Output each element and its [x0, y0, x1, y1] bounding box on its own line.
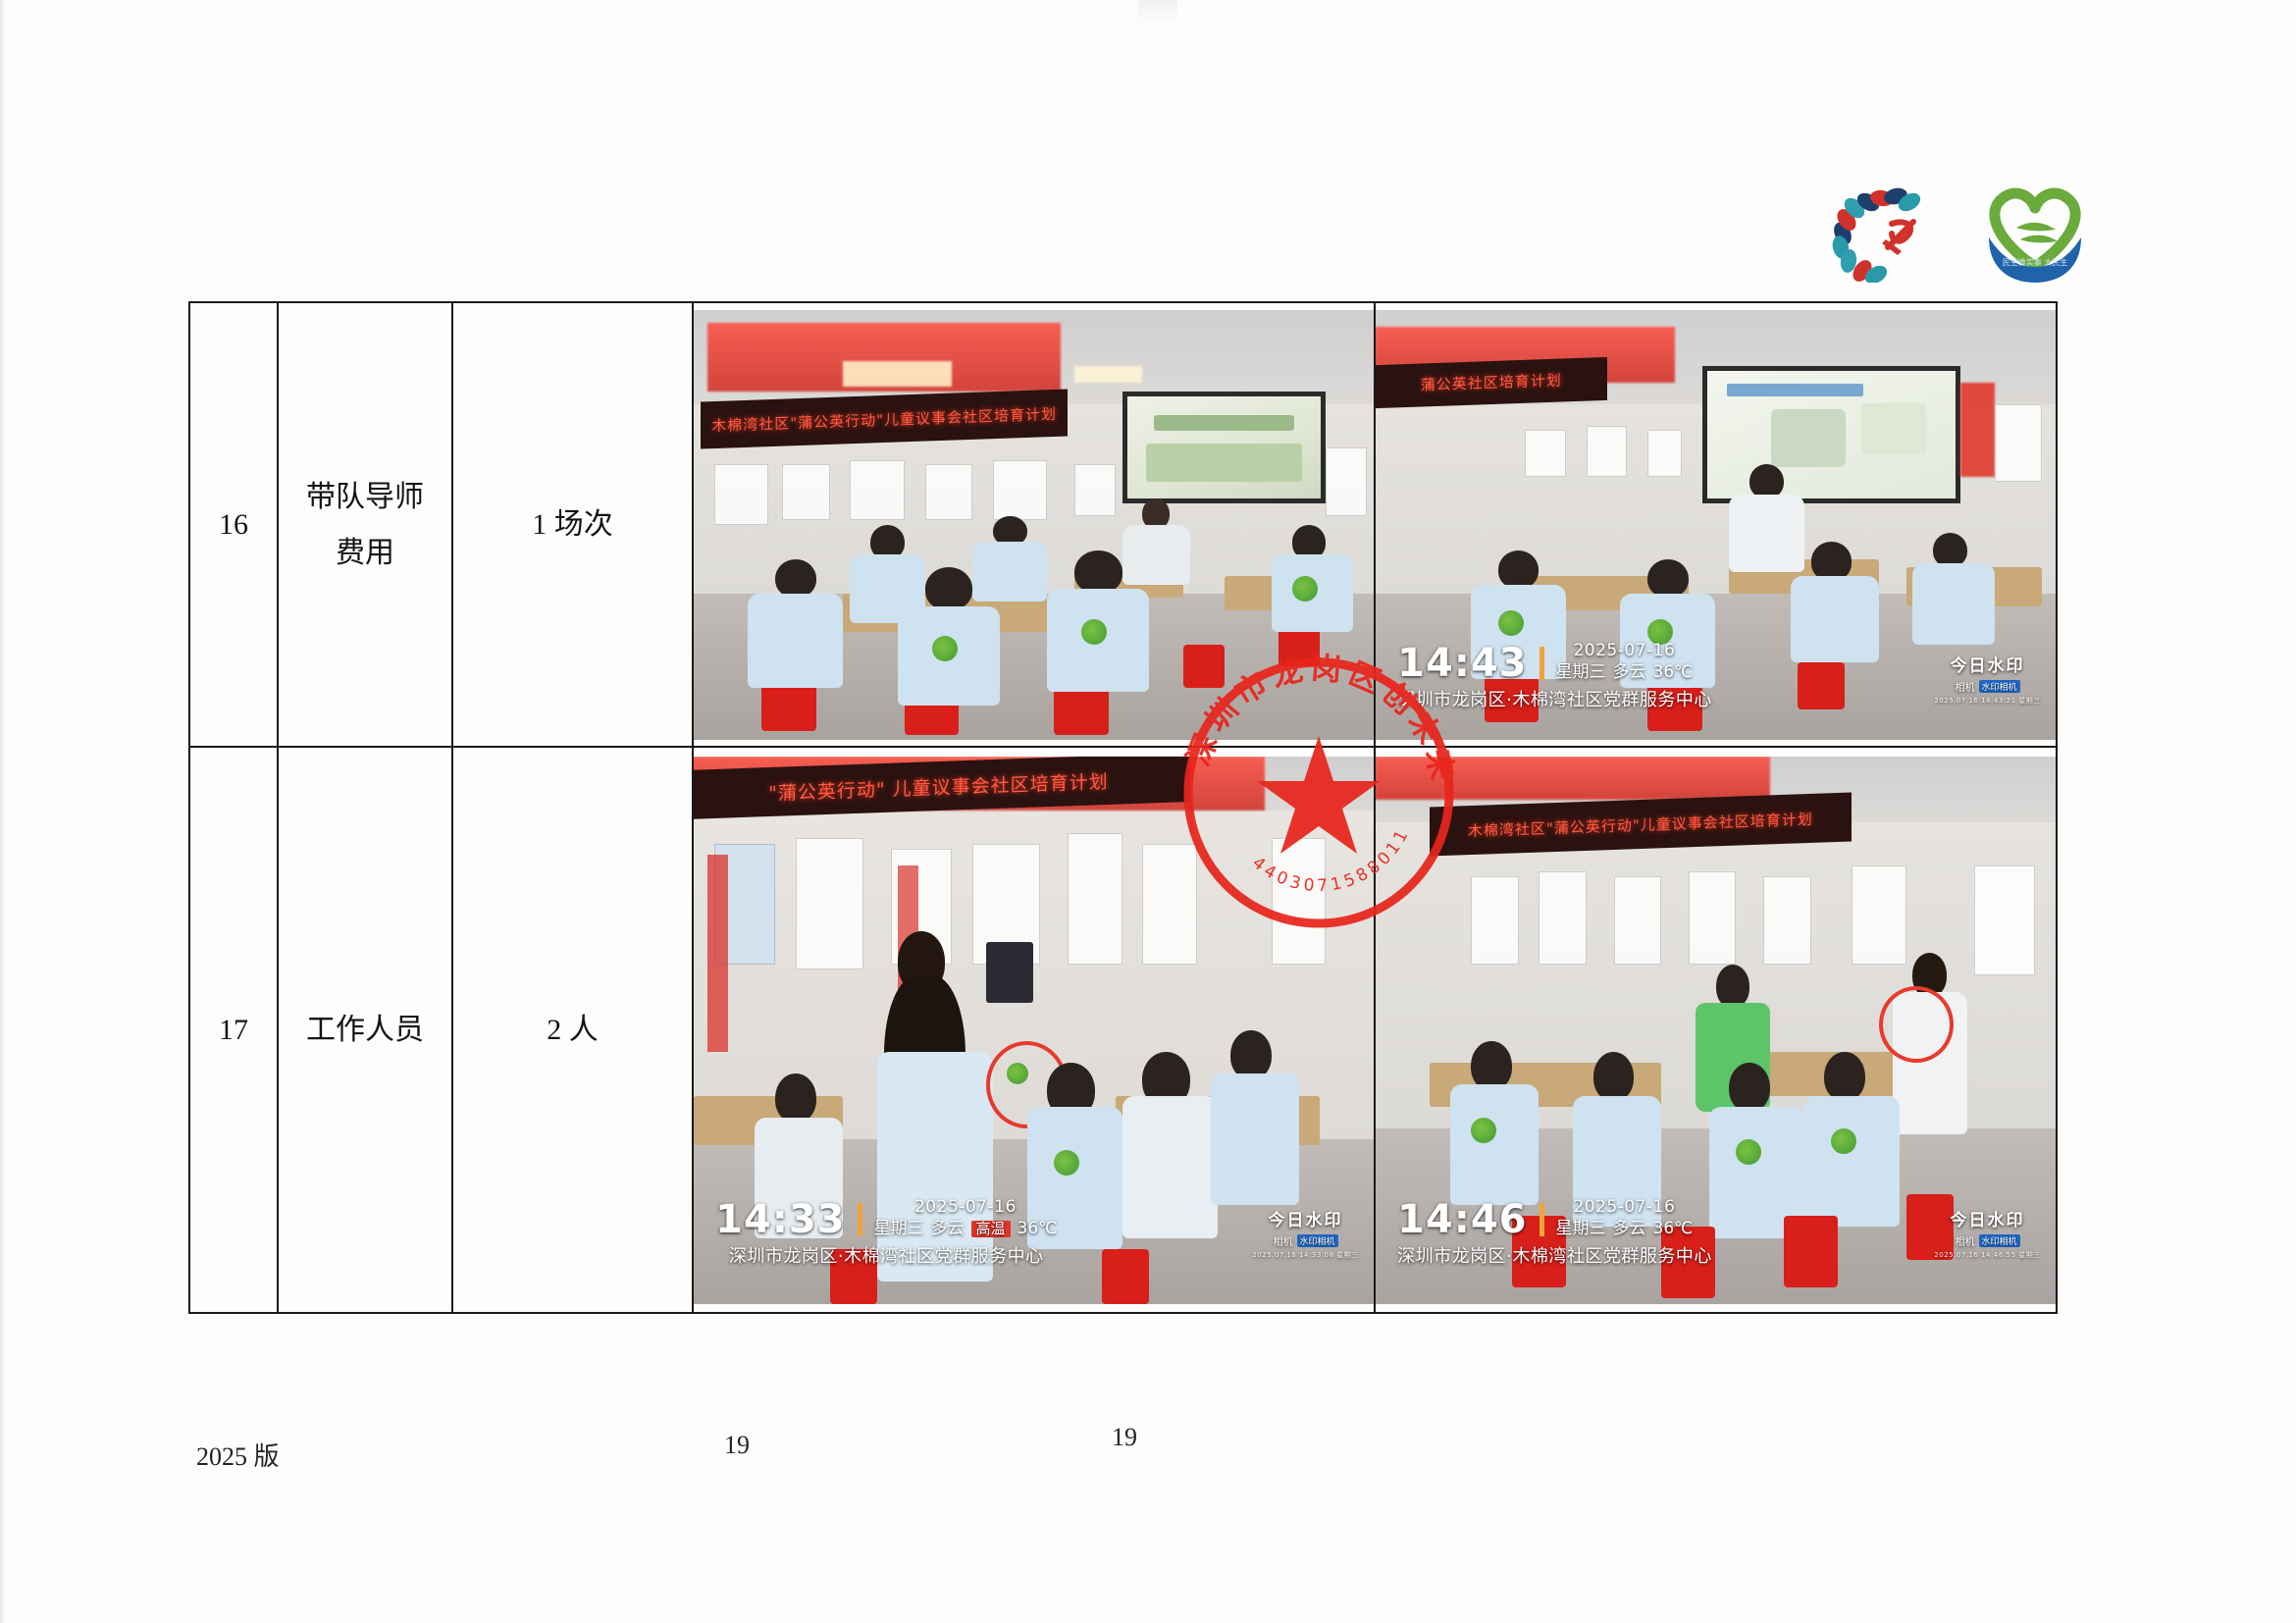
- row-name-line1: 带队导师: [279, 469, 451, 525]
- footer-version: 2025 版: [196, 1437, 280, 1473]
- annotation-circle: [1879, 986, 1954, 1063]
- table-row: 17 工作人员 2 人 "蒲公: [189, 747, 2057, 1313]
- timestamp-place: 深圳市龙岗区·木棉湾社区党群服务中心: [1397, 692, 1712, 709]
- evidence-table: 16 带队导师 费用 1 场次: [188, 301, 2058, 1314]
- led-banner-text: 蒲公英社区培育计划: [1376, 357, 1607, 408]
- row-name: 带队导师 费用: [279, 469, 451, 581]
- row-index: 16: [190, 497, 277, 552]
- page-number-right: 19: [1112, 1423, 1137, 1452]
- watermark-sub: 相机: [1956, 1233, 1975, 1248]
- row-name-cell: 工作人员: [278, 747, 452, 1313]
- document-page: 民生微实事 大民生 16 带队导师 费用 1 场次: [0, 0, 2296, 1623]
- projector-screen: [1122, 392, 1327, 503]
- timestamp-divider: [858, 1203, 862, 1236]
- logo-group: 民生微实事 大民生: [1827, 175, 2141, 292]
- watermark-chip: 水印相机: [1979, 1234, 2020, 1247]
- timestamp-date: 2025-07-16: [1556, 1199, 1694, 1216]
- watermark-sub: 相机: [1956, 679, 1975, 694]
- photo-16-right: 蒲公英社区培育计划: [1376, 310, 2056, 740]
- row-quantity-cell: 1 场次: [452, 302, 693, 747]
- row-quantity: 1 场次: [453, 497, 692, 552]
- row-name-line1: 工作人员: [279, 1002, 451, 1058]
- watermark-badge: 今日水印 相机 水印相机 2025.07.16 14:43:21 星期三: [1934, 652, 2040, 706]
- photo-17-left: "蒲公英行动" 儿童议事会社区培育计划: [694, 757, 1374, 1304]
- timestamp-time: 14:43: [1397, 644, 1527, 683]
- timestamp-sky: 多云: [931, 1221, 965, 1237]
- table-row: 16 带队导师 费用 1 场次: [189, 302, 2057, 747]
- projector-screen: [1702, 366, 1960, 503]
- timestamp-weekday: 星期三: [874, 1221, 924, 1237]
- timestamp-time: 14:33: [715, 1200, 845, 1239]
- photo-cell: "蒲公英行动" 儿童议事会社区培育计划: [693, 747, 1375, 1313]
- watermark-chip: 水印相机: [1297, 1234, 1338, 1247]
- timestamp-date: 2025-07-16: [874, 1199, 1058, 1216]
- watermark-sub: 相机: [1274, 1233, 1293, 1248]
- watermark-chip: 水印相机: [1979, 680, 2020, 693]
- photo-17-right: 木棉湾社区"蒲公英行动"儿童议事会社区培育计划: [1376, 757, 2056, 1304]
- watermark-title: 今日水印: [1252, 1206, 1358, 1230]
- watermark-title: 今日水印: [1934, 1206, 2040, 1230]
- community-heart-logo: 民生微实事 大民生: [1977, 181, 2093, 287]
- timestamp-time: 14:46: [1397, 1200, 1527, 1239]
- photo-16-left: 木棉湾社区"蒲公英行动"儿童议事会社区培育计划: [694, 310, 1374, 740]
- row-index-cell: 16: [189, 302, 278, 747]
- photo-timestamp-overlay: 14:43 2025-07-16 星期三 多云 36℃: [1397, 643, 1712, 709]
- row-index: 17: [190, 1002, 277, 1058]
- party-heart-logo: [1827, 184, 1930, 283]
- row-index-cell: 17: [189, 747, 278, 1313]
- photo-cell: 木棉湾社区"蒲公英行动"儿童议事会社区培育计划: [1375, 747, 2057, 1313]
- watermark-title: 今日水印: [1934, 652, 2040, 676]
- timestamp-hot-tag: 高温: [971, 1221, 1011, 1237]
- svg-text:民生微实事 大民生: 民生微实事 大民生: [2003, 257, 2068, 267]
- timestamp-sky: 多云: [1613, 664, 1646, 681]
- row-name: 工作人员: [279, 1002, 451, 1058]
- scan-edge: [0, 0, 6, 1623]
- timestamp-place: 深圳市龙岗区·木棉湾社区党群服务中心: [715, 1248, 1057, 1266]
- timestamp-divider: [1539, 647, 1544, 680]
- photo-cell: 蒲公英社区培育计划: [1375, 302, 2057, 747]
- timestamp-weekday: 星期三: [1556, 664, 1606, 681]
- watermark-tiny: 2025.07.16 14:43:21 星期三: [1934, 696, 2040, 706]
- timestamp-date: 2025-07-16: [1556, 643, 1694, 659]
- watermark-tiny: 2025.07.16 14:33:08 星期三: [1252, 1250, 1358, 1260]
- timestamp-temp: 36℃: [1653, 664, 1694, 681]
- photo-cell: 木棉湾社区"蒲公英行动"儿童议事会社区培育计划: [693, 302, 1375, 747]
- timestamp-temp: 36℃: [1018, 1221, 1058, 1237]
- watermark-badge: 今日水印 相机 水印相机 2025.07.16 14:46:55 星期三: [1934, 1206, 2040, 1260]
- timestamp-temp: 36℃: [1653, 1221, 1694, 1237]
- photo-timestamp-overlay: 14:46 2025-07-16 星期三 多云 36℃: [1397, 1199, 1712, 1266]
- row-name-cell: 带队导师 费用: [278, 302, 452, 747]
- row-quantity: 2 人: [453, 1002, 692, 1058]
- scan-artifact: [1138, 0, 1177, 29]
- row-quantity-cell: 2 人: [452, 747, 693, 1313]
- timestamp-sky: 多云: [1613, 1221, 1646, 1237]
- row-name-line2: 费用: [279, 525, 451, 581]
- timestamp-weekday: 星期三: [1556, 1221, 1606, 1237]
- photo-timestamp-overlay: 14:33 2025-07-16 星期三 多云 高温 36℃: [715, 1199, 1057, 1266]
- page-number-left: 19: [724, 1431, 750, 1460]
- timestamp-divider: [1539, 1203, 1544, 1236]
- timestamp-place: 深圳市龙岗区·木棉湾社区党群服务中心: [1397, 1248, 1712, 1266]
- watermark-badge: 今日水印 相机 水印相机 2025.07.16 14:33:08 星期三: [1252, 1206, 1358, 1260]
- watermark-tiny: 2025.07.16 14:46:55 星期三: [1934, 1250, 2040, 1260]
